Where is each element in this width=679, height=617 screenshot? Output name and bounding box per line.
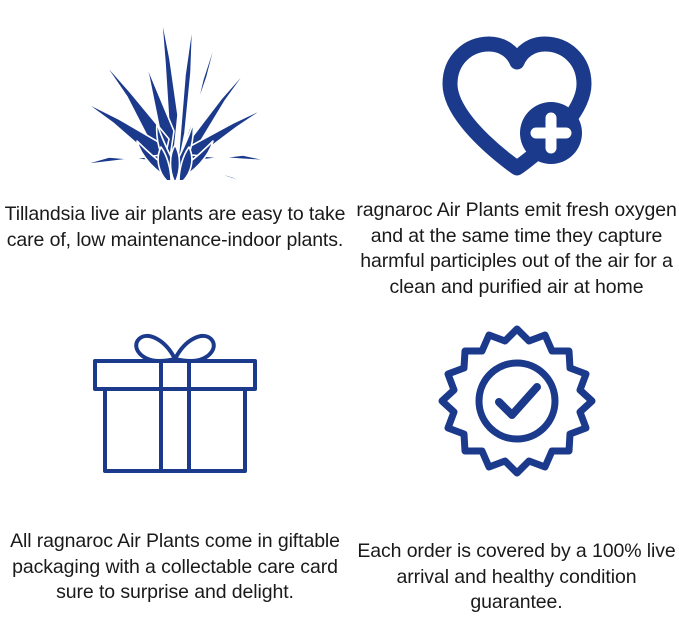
feature-caption-fresh-oxygen: ragnaroc Air Plants emit fresh oxygen an…	[356, 198, 678, 301]
guarantee-badge-icon-container	[356, 308, 677, 493]
guarantee-badge-icon	[437, 321, 597, 481]
feature-grid: Tillandsia live air plants are easy to t…	[0, 0, 679, 617]
heart-plus-icon	[432, 30, 602, 180]
gift-lid	[95, 361, 255, 389]
gift-body	[105, 389, 245, 471]
feature-caption-air-plant-care: Tillandsia live air plants are easy to t…	[3, 202, 347, 253]
feature-card-giftable-packaging: All ragnaroc Air Plants come in giftable…	[0, 308, 350, 617]
badge-rosette-outline	[442, 329, 592, 473]
heart-plus-icon-container	[356, 0, 677, 180]
gift-box-icon	[85, 321, 265, 481]
feature-caption-live-arrival-guarantee: Each order is covered by a 100% live arr…	[356, 539, 678, 616]
check-icon	[499, 387, 537, 415]
bow-right-loop	[175, 335, 214, 360]
air-plant-icon	[75, 5, 275, 180]
feature-card-fresh-oxygen: ragnaroc Air Plants emit fresh oxygen an…	[350, 0, 679, 308]
air-plant-icon-container	[4, 0, 346, 180]
feature-card-air-plant-care: Tillandsia live air plants are easy to t…	[0, 0, 350, 308]
feature-caption-giftable-packaging: All ragnaroc Air Plants come in giftable…	[10, 529, 340, 606]
badge-inner-circle	[479, 363, 555, 439]
gift-box-icon-container	[4, 308, 346, 493]
bow-left-loop	[136, 335, 175, 360]
feature-card-live-arrival-guarantee: Each order is covered by a 100% live arr…	[350, 308, 679, 617]
